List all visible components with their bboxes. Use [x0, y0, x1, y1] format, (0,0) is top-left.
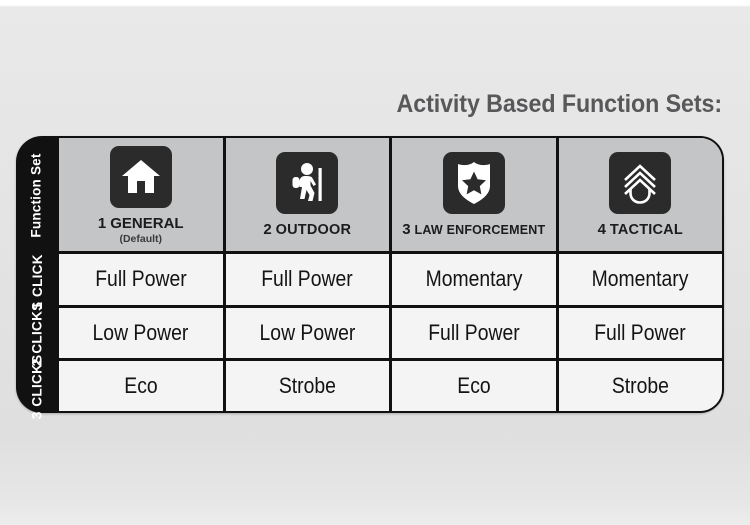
table-cell: Momentary: [556, 254, 723, 305]
column-header-tactical[interactable]: 4 TACTICAL: [556, 138, 723, 251]
cell-value: Full Power: [428, 320, 519, 346]
column-name: OUTDOOR: [276, 222, 352, 238]
police-badge-icon: [443, 152, 505, 214]
column-number: 3: [402, 221, 410, 238]
function-set-table: 1 GENERAL (Default): [57, 136, 724, 413]
column-name: LAW ENFORCEMENT: [415, 223, 546, 237]
table-cell: Strobe: [556, 361, 723, 411]
table-cell: Momentary: [389, 254, 556, 305]
rail-cell-function-set: Function Set: [16, 136, 57, 255]
hiker-icon: [276, 152, 338, 214]
rail-cell-1-click: 1 CLICK: [16, 255, 57, 308]
rail-cell-2-clicks: 2 CLICKS: [16, 308, 57, 360]
rail-word: CLICK: [30, 254, 45, 297]
cell-value: Low Power: [259, 320, 355, 346]
page-title: Activity Based Function Sets:: [51, 90, 722, 119]
table-cell: Full Power: [59, 254, 223, 305]
column-header-law-enforcement[interactable]: 3 LAW ENFORCEMENT: [389, 138, 556, 251]
cell-value: Full Power: [95, 266, 186, 292]
column-number: 2: [263, 221, 271, 238]
rail-label-function-set: Function Set: [29, 153, 44, 237]
function-set-table-panel: Function Set 1 CLICK 2 CLICKS 3 CLICKS: [16, 136, 724, 413]
cell-value: Full Power: [262, 266, 353, 292]
cell-value: Low Power: [93, 320, 189, 346]
house-icon: [110, 146, 172, 208]
table-cell: Full Power: [223, 254, 390, 305]
table-row: Low Power Low Power Full Power Full Powe…: [59, 305, 722, 358]
cell-value: Full Power: [595, 320, 686, 346]
cell-value: Strobe: [612, 373, 669, 399]
rail-word: CLICKS: [30, 302, 45, 354]
table-cell: Eco: [389, 361, 556, 411]
table-cell: Low Power: [59, 308, 223, 358]
cell-value: Momentary: [425, 266, 522, 292]
function-set-diagram: Activity Based Function Sets: Function S…: [0, 0, 750, 525]
cell-value: Strobe: [279, 373, 336, 399]
table-cell: Low Power: [223, 308, 390, 358]
rail-cell-3-clicks: 3 CLICKS: [16, 360, 57, 413]
cell-value: Momentary: [592, 266, 689, 292]
rail-word: CLICKS: [30, 354, 45, 406]
cell-value: Eco: [457, 373, 490, 399]
column-name: GENERAL: [110, 215, 183, 232]
table-header-row: 1 GENERAL (Default): [59, 138, 722, 251]
table-row: Full Power Full Power Momentary Momentar…: [59, 251, 722, 305]
table-row: Eco Strobe Eco Strobe: [59, 358, 722, 411]
cell-value: Eco: [124, 373, 157, 399]
column-header-general[interactable]: 1 GENERAL (Default): [59, 138, 223, 251]
sergeant-chevron-icon: [609, 152, 671, 214]
table-cell: Full Power: [389, 308, 556, 358]
column-number: 1: [98, 215, 106, 232]
table-cell: Full Power: [556, 308, 723, 358]
rail-number: 3: [29, 411, 45, 419]
column-subtitle: (Default): [119, 233, 162, 245]
column-name: TACTICAL: [610, 222, 683, 238]
column-number: 4: [598, 221, 606, 238]
row-header-rail: Function Set 1 CLICK 2 CLICKS 3 CLICKS: [16, 136, 57, 413]
table-cell: Strobe: [223, 361, 390, 411]
column-header-outdoor[interactable]: 2 OUTDOOR: [223, 138, 390, 251]
table-cell: Eco: [59, 361, 223, 411]
